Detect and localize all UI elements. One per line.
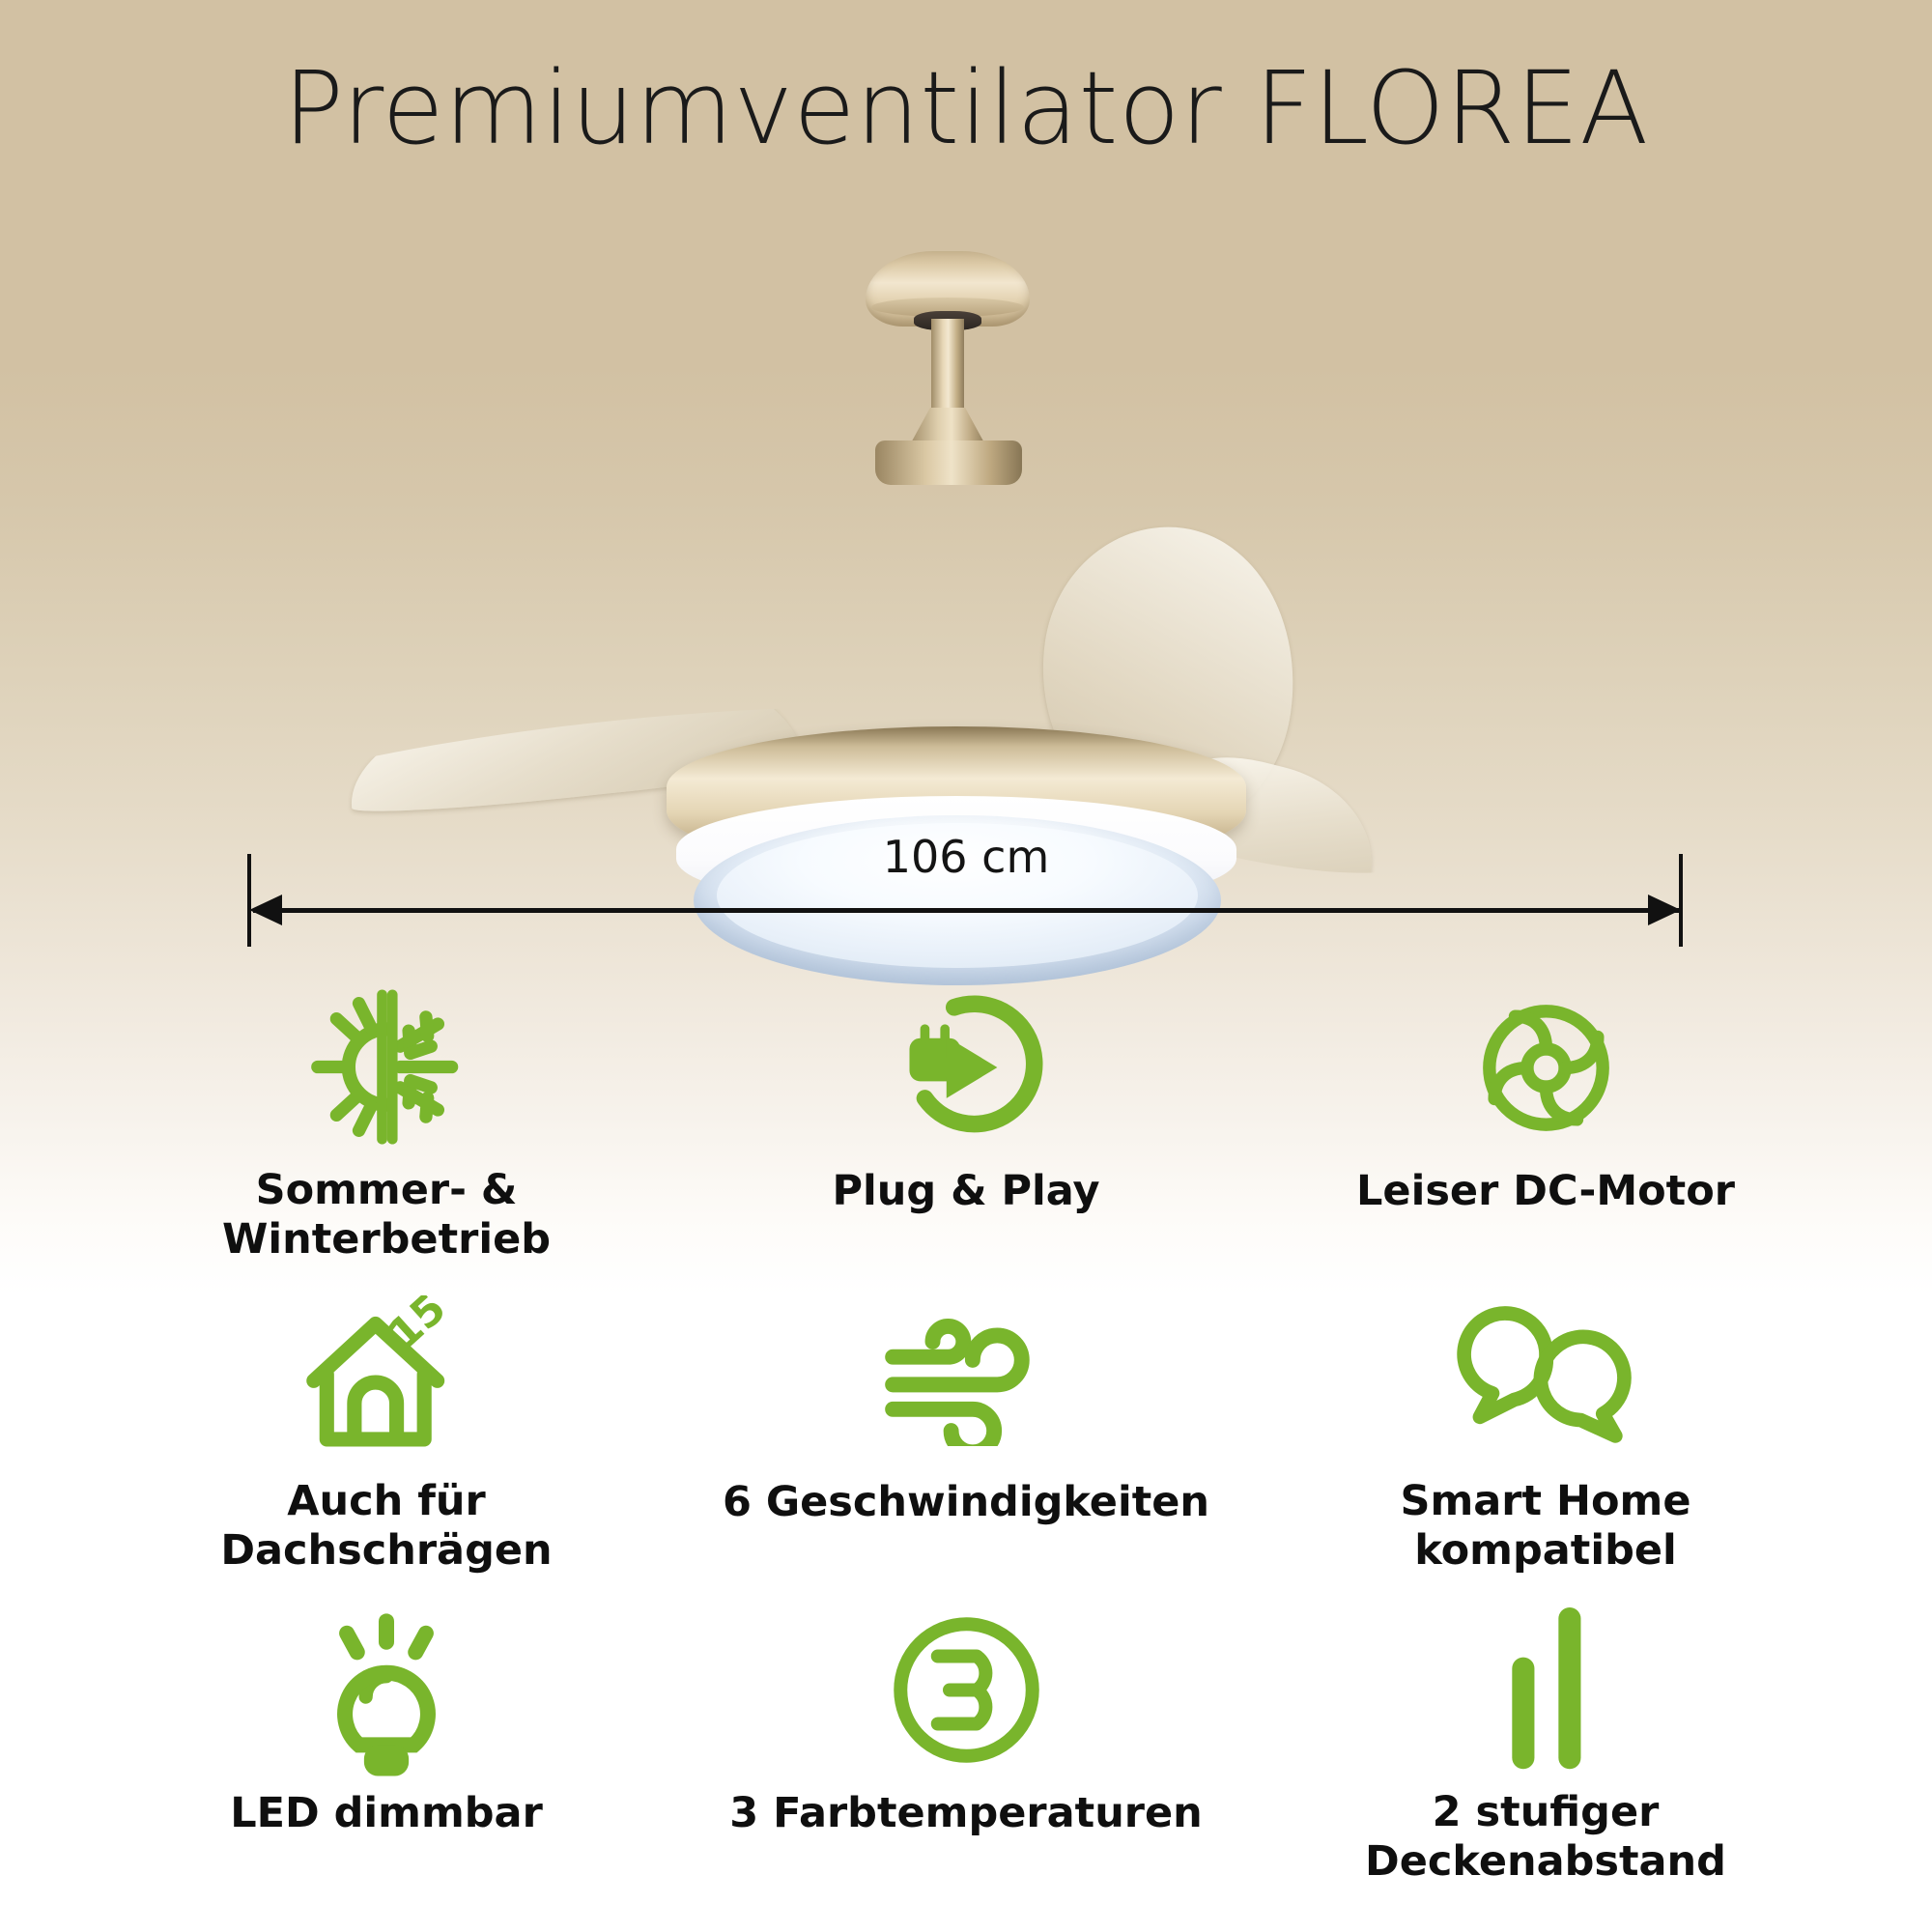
feature-item: 6 Geschwindigkeiten — [676, 1287, 1256, 1577]
fan-motor-top — [875, 440, 1022, 485]
lightbulb-icon — [304, 1598, 469, 1781]
feature-grid: Sommer- & Winterbetrieb — [97, 976, 1835, 1888]
feature-item: LED dimmbar — [97, 1598, 676, 1888]
feature-label: 2 stufiger Deckenabstand — [1275, 1788, 1816, 1888]
feature-item: Leiser DC-Motor — [1256, 976, 1835, 1265]
feature-label: Plug & Play — [832, 1167, 1099, 1217]
sun-snowflake-icon — [299, 976, 473, 1158]
plug-play-icon — [877, 976, 1056, 1159]
dimension-line — [253, 908, 1681, 913]
product-image — [0, 222, 1932, 821]
feature-label: Leiser DC-Motor — [1356, 1167, 1735, 1217]
dimension-arrow-left-icon — [249, 895, 282, 925]
house-roof-angle-icon: 15° — [298, 1287, 476, 1469]
two-bars-icon — [1473, 1598, 1618, 1780]
feature-label: 6 Geschwindigkeiten — [723, 1478, 1209, 1528]
speech-bubbles-icon — [1457, 1287, 1635, 1469]
feature-item: Plug & Play — [676, 976, 1256, 1265]
feature-label: LED dimmbar — [230, 1789, 543, 1839]
dimension-label: 106 cm — [0, 831, 1932, 883]
dimension-indicator: 106 cm — [0, 831, 1932, 956]
product-infographic: Premiumventilator FLOREA 106 cm — [0, 0, 1932, 1932]
roof-angle-text: 15° — [379, 1295, 471, 1359]
page-title: Premiumventilator FLOREA — [0, 52, 1932, 164]
feature-item: 2 stufiger Deckenabstand — [1256, 1598, 1835, 1888]
feature-label: Sommer- & Winterbetrieb — [116, 1166, 657, 1265]
fan-rotor-icon — [1457, 976, 1635, 1159]
feature-item: Sommer- & Winterbetrieb — [97, 976, 676, 1265]
feature-label: 3 Farbtemperaturen — [729, 1789, 1203, 1839]
feature-item: 3 Farbtemperaturen — [676, 1598, 1256, 1888]
feature-item: Smart Home kompatibel — [1256, 1287, 1835, 1577]
feature-label: Auch für Dachschrägen — [116, 1477, 657, 1577]
feature-item: 15° Auch für Dachschrägen — [97, 1287, 676, 1577]
fan-downrod — [931, 319, 964, 413]
number-three-circle-icon — [882, 1598, 1051, 1781]
wind-icon — [877, 1287, 1056, 1470]
feature-label: Smart Home kompatibel — [1400, 1477, 1690, 1577]
dimension-arrow-right-icon — [1648, 895, 1681, 925]
